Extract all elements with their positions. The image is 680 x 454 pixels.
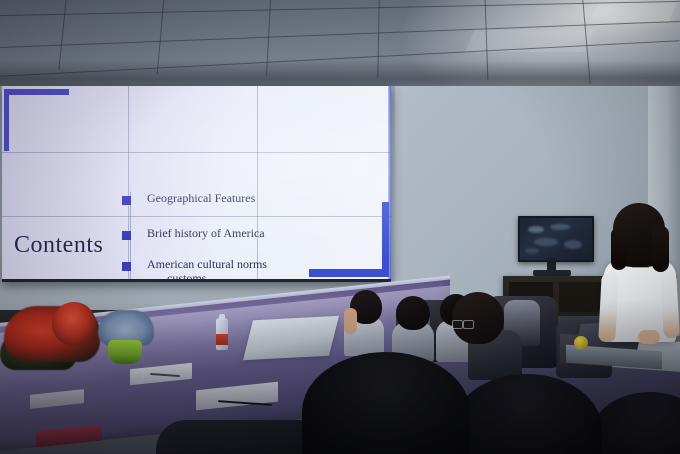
ceiling	[0, 0, 680, 92]
bullet-square-icon	[122, 231, 131, 240]
bottle-label	[216, 334, 228, 345]
wall-monitor	[518, 216, 594, 262]
green-planter	[108, 340, 142, 364]
video-wall-frame: Contents Geographical Features Brief his…	[2, 86, 391, 282]
audience-head	[452, 292, 504, 344]
slide-bullet-text: Geographical Features	[147, 191, 255, 206]
slide-bullet-subtext: customs	[167, 271, 206, 279]
slide-bullet-text: Brief history of America	[147, 226, 265, 241]
presenter-hair-left	[611, 228, 627, 270]
audience-hand	[344, 308, 357, 334]
red-flower-arrangement	[52, 302, 96, 346]
laptop	[243, 316, 339, 361]
slide-accent-left-edge	[4, 89, 9, 151]
video-wall-seam	[2, 152, 391, 153]
slide-accent-top-left	[4, 89, 69, 95]
video-wall-seam	[128, 86, 129, 279]
bullet-square-icon	[122, 262, 131, 271]
presenter-hand	[638, 330, 660, 344]
screen-right-edge	[388, 86, 391, 279]
presenter-hair-right	[652, 226, 669, 272]
monitor-content-blob	[550, 224, 570, 230]
monitor-screen	[520, 218, 592, 260]
presenter-right-arm	[660, 272, 679, 339]
bullet-square-icon	[122, 196, 131, 205]
monitor-content-blob	[525, 248, 539, 254]
slide-bullet-text: American cultural norms	[147, 257, 267, 272]
monitor-content-blob	[534, 238, 558, 246]
classroom-photo-scene: Contents Geographical Features Brief his…	[0, 0, 680, 454]
projected-slide: Contents Geographical Features Brief his…	[2, 86, 391, 279]
audience-head	[396, 296, 430, 330]
slide-accent-bottom-right	[309, 269, 389, 277]
monitor-content-blob	[528, 226, 544, 233]
video-wall-seam	[2, 216, 391, 217]
water-bottle	[216, 310, 228, 350]
eyeglasses	[452, 320, 474, 327]
bottle-cap	[219, 314, 225, 320]
video-wall-seam	[257, 86, 258, 279]
monitor-content-blob	[564, 240, 582, 249]
apple-fruit	[574, 336, 588, 350]
slide-title: Contents	[14, 232, 103, 259]
